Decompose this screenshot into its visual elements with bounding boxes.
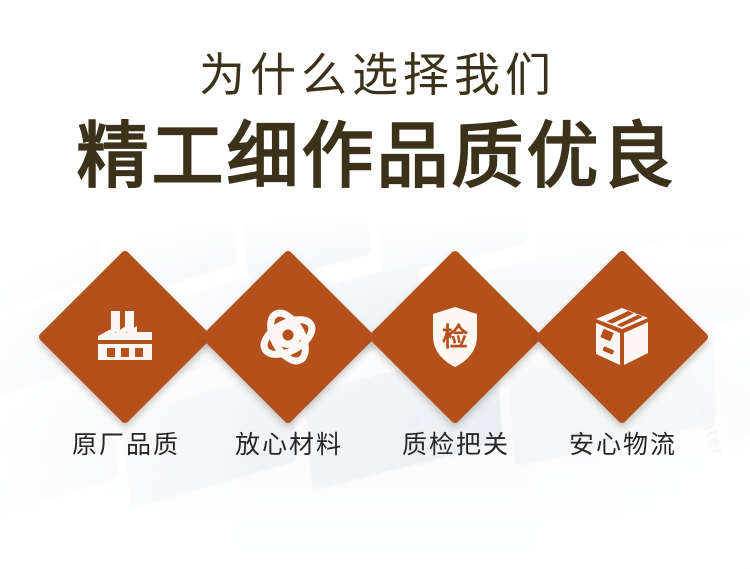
page-subtitle: 精工细作品质优良 — [0, 121, 750, 193]
feature-list: 原厂品质 放心材料 — [0, 272, 750, 497]
diamond-shape — [200, 249, 375, 424]
diamond-shape — [37, 249, 212, 424]
diamond-shape — [534, 249, 709, 424]
feature-item-factory[interactable]: 原厂品质 — [41, 272, 209, 458]
factory-icon — [63, 275, 187, 399]
feature-item-material[interactable]: 放心材料 — [204, 272, 372, 458]
package-box-icon — [560, 275, 684, 399]
promo-banner: enter shift 为什么选择我们 精工细作品质优良 — [0, 0, 750, 569]
feature-item-logistics[interactable]: 安心物流 — [538, 272, 706, 458]
shield-character: 检 — [442, 322, 468, 352]
diamond-shape: 检 — [367, 249, 542, 424]
feature-label: 安心物流 — [538, 433, 706, 458]
atom-icon — [226, 275, 350, 399]
keyboard-key — [533, 215, 685, 265]
feature-item-inspection[interactable]: 检 质检把关 — [371, 272, 539, 458]
shield-inspection-icon: 检 — [393, 275, 517, 399]
keyboard-key — [685, 215, 750, 255]
feature-label: 原厂品质 — [41, 433, 209, 458]
feature-label: 质检把关 — [371, 433, 539, 458]
page-title: 为什么选择我们 — [0, 52, 750, 98]
heading-block: 为什么选择我们 精工细作品质优良 — [0, 52, 750, 193]
feature-label: 放心材料 — [204, 433, 372, 458]
